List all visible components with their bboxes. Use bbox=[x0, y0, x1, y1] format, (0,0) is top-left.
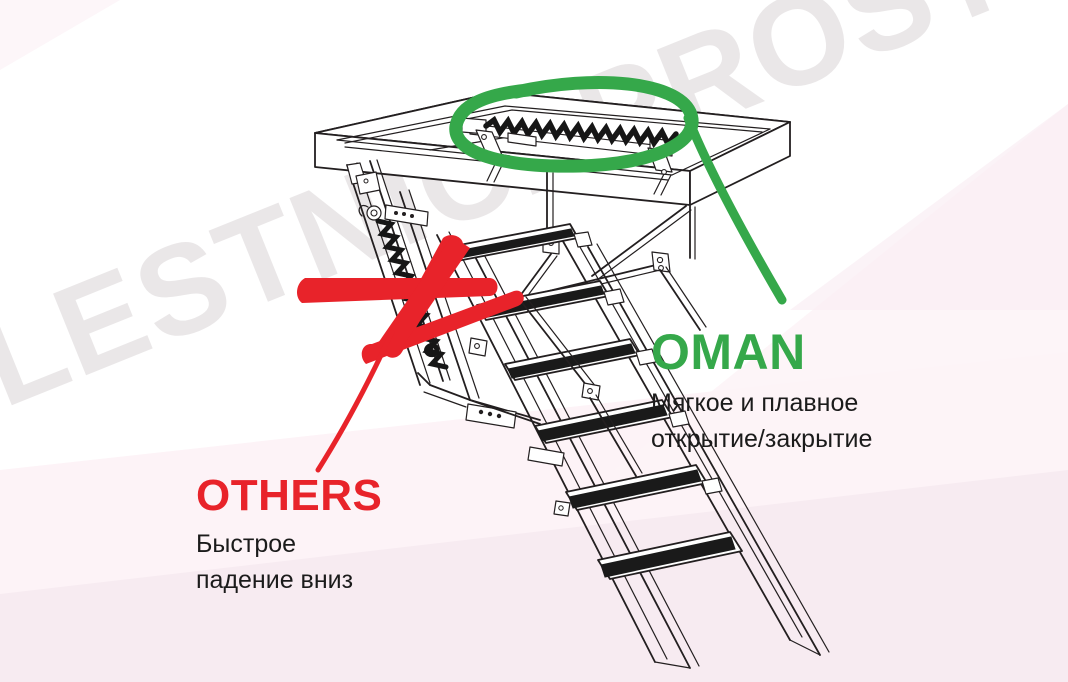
oman-label-block: OMAN Мягкое и плавное открытие/закрытие bbox=[651, 327, 872, 458]
oman-line-1: Мягкое и плавное bbox=[651, 385, 872, 421]
illustration-canvas: LESTNICI-PROSTO.RU .ln { fill:none; stro… bbox=[0, 0, 1068, 682]
others-title: OTHERS bbox=[196, 474, 382, 518]
red-annotation-layer bbox=[0, 0, 1068, 682]
others-label-block: OTHERS Быстрое падение вниз bbox=[196, 474, 382, 599]
red-leader-line bbox=[318, 332, 392, 470]
oman-title: OMAN bbox=[651, 327, 872, 377]
oman-line-2: открытие/закрытие bbox=[651, 421, 872, 457]
red-arrow bbox=[297, 235, 524, 364]
others-line-2: падение вниз bbox=[196, 562, 382, 598]
others-line-1: Быстрое bbox=[196, 526, 382, 562]
